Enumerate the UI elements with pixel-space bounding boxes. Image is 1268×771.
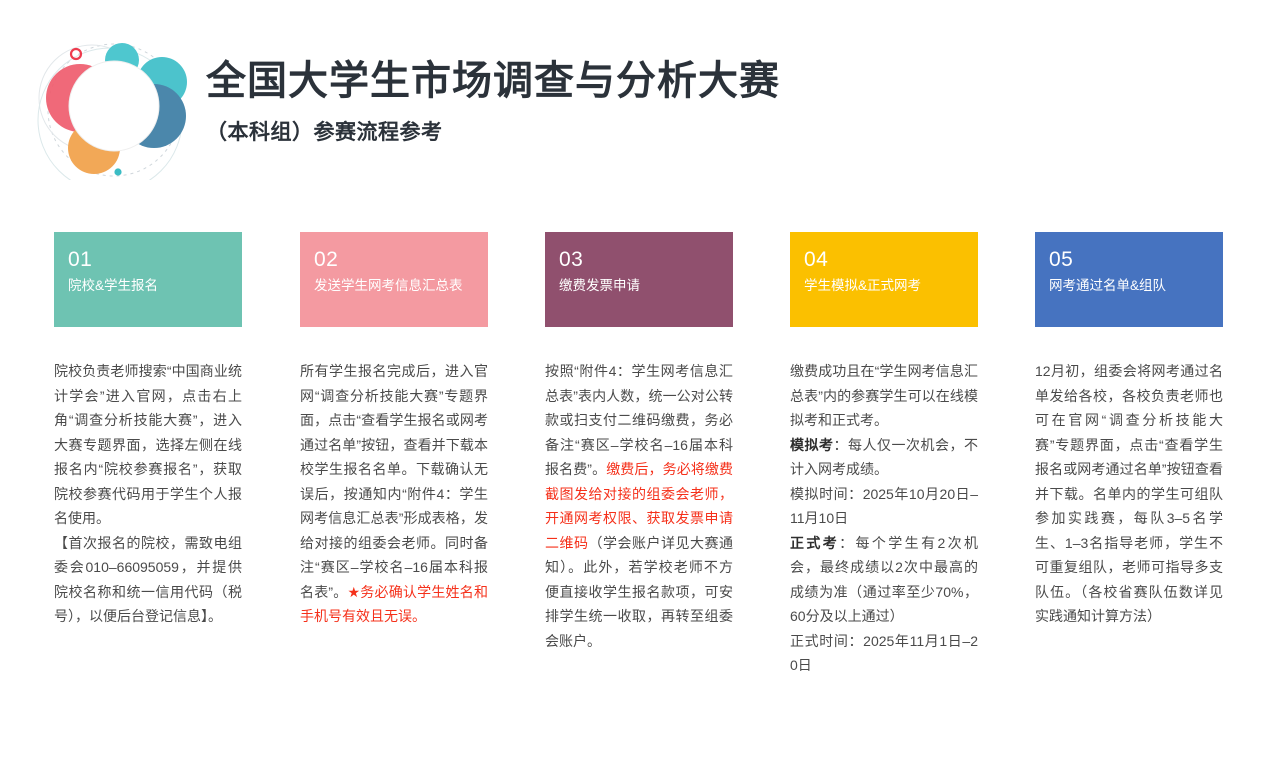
text-run-normal: 模拟时间：2025年10月20日–11月10日	[790, 486, 978, 527]
step-number: 01	[68, 248, 228, 271]
step-card-02[interactable]: 02发送学生网考信息汇总表	[300, 232, 488, 327]
title-block: 全国大学生市场调查与分析大赛 （本科组）参赛流程参考	[206, 58, 780, 146]
step-card-05[interactable]: 05网考通过名单&组队	[1035, 232, 1223, 327]
step-description: 12月初，组委会将网考通过名单发给各校，各校负责老师也可在官网“调查分析技能大赛…	[1035, 359, 1223, 629]
step-paragraph: 正式考：每个学生有2次机会，最终成绩以2次中最高的成绩为准（通过率至少70%，6…	[790, 531, 978, 629]
step-card-01[interactable]: 01院校&学生报名	[54, 232, 242, 327]
step-column-03: 03缴费发票申请按照“附件4：学生网考信息汇总表”表内人数，统一公对公转款或扫支…	[545, 232, 733, 653]
step-label: 网考通过名单&组队	[1049, 276, 1209, 296]
step-paragraph: 模拟时间：2025年10月20日–11月10日	[790, 482, 978, 531]
step-column-02: 02发送学生网考信息汇总表所有学生报名完成后，进入官网“调查分析技能大赛”专题界…	[300, 232, 488, 629]
step-column-01: 01院校&学生报名院校负责老师搜索“中国商业统计学会”进入官网，点击右上角“调查…	[54, 232, 242, 629]
step-card-04[interactable]: 04学生模拟&正式网考	[790, 232, 978, 327]
text-run-normal: 12月初，组委会将网考通过名单发给各校，各校负责老师也可在官网“调查分析技能大赛…	[1035, 363, 1223, 624]
page-subtitle: （本科组）参赛流程参考	[206, 116, 780, 146]
text-run-normal: 【首次报名的院校，需致电组委会010–66095059，并提供院校名称和统一信用…	[54, 535, 242, 625]
step-paragraph: 所有学生报名完成后，进入官网“调查分析技能大赛”专题界面，点击“查看学生报名或网…	[300, 359, 488, 629]
step-label: 发送学生网考信息汇总表	[314, 276, 474, 296]
step-description: 缴费成功且在“学生网考信息汇总表”内的参赛学生可以在线模拟考和正式考。模拟考：每…	[790, 359, 978, 678]
step-description: 院校负责老师搜索“中国商业统计学会”进入官网，点击右上角“调查分析技能大赛”，进…	[54, 359, 242, 629]
text-run-normal: 院校负责老师搜索“中国商业统计学会”进入官网，点击右上角“调查分析技能大赛”，进…	[54, 363, 242, 526]
step-paragraph: 缴费成功且在“学生网考信息汇总表”内的参赛学生可以在线模拟考和正式考。	[790, 359, 978, 433]
step-column-04: 04学生模拟&正式网考缴费成功且在“学生网考信息汇总表”内的参赛学生可以在线模拟…	[790, 232, 978, 678]
step-description: 所有学生报名完成后，进入官网“调查分析技能大赛”专题界面，点击“查看学生报名或网…	[300, 359, 488, 629]
step-number: 04	[804, 248, 964, 271]
text-run-normal: 所有学生报名完成后，进入官网“调查分析技能大赛”专题界面，点击“查看学生报名或网…	[300, 363, 488, 600]
step-label: 学生模拟&正式网考	[804, 276, 964, 296]
text-run-normal: 正式时间：2025年11月1日–20日	[790, 633, 978, 674]
step-paragraph: 【首次报名的院校，需致电组委会010–66095059，并提供院校名称和统一信用…	[54, 531, 242, 629]
step-number: 02	[314, 248, 474, 271]
step-paragraph: 12月初，组委会将网考通过名单发给各校，各校负责老师也可在官网“调查分析技能大赛…	[1035, 359, 1223, 629]
step-number: 03	[559, 248, 719, 271]
step-number: 05	[1049, 248, 1209, 271]
text-run-normal: 按照“附件4：学生网考信息汇总表”表内人数，统一公对公转款或扫支付二维码缴费，务…	[545, 363, 733, 477]
step-column-05: 05网考通过名单&组队12月初，组委会将网考通过名单发给各校，各校负责老师也可在…	[1035, 232, 1223, 629]
page-header: 全国大学生市场调查与分析大赛 （本科组）参赛流程参考	[0, 0, 1268, 200]
overlapping-circles-logo	[22, 36, 204, 180]
step-paragraph: 院校负责老师搜索“中国商业统计学会”进入官网，点击右上角“调查分析技能大赛”，进…	[54, 359, 242, 531]
text-run-bold: 正式考	[790, 535, 839, 551]
text-run-bold: 模拟考	[790, 437, 834, 453]
step-paragraph: 正式时间：2025年11月1日–20日	[790, 629, 978, 678]
text-run-normal: 缴费成功且在“学生网考信息汇总表”内的参赛学生可以在线模拟考和正式考。	[790, 363, 978, 428]
text-run-normal: （学会账户详见大赛通知）。此外，若学校老师不方便直接收学生报名款项，可安排学生统…	[545, 535, 733, 649]
step-label: 院校&学生报名	[68, 276, 228, 296]
step-paragraph: 模拟考：每人仅一次机会，不计入网考成绩。	[790, 433, 978, 482]
step-paragraph: 按照“附件4：学生网考信息汇总表”表内人数，统一公对公转款或扫支付二维码缴费，务…	[545, 359, 733, 653]
page-title: 全国大学生市场调查与分析大赛	[206, 58, 780, 104]
step-card-03[interactable]: 03缴费发票申请	[545, 232, 733, 327]
step-label: 缴费发票申请	[559, 276, 719, 296]
step-description: 按照“附件4：学生网考信息汇总表”表内人数，统一公对公转款或扫支付二维码缴费，务…	[545, 359, 733, 653]
